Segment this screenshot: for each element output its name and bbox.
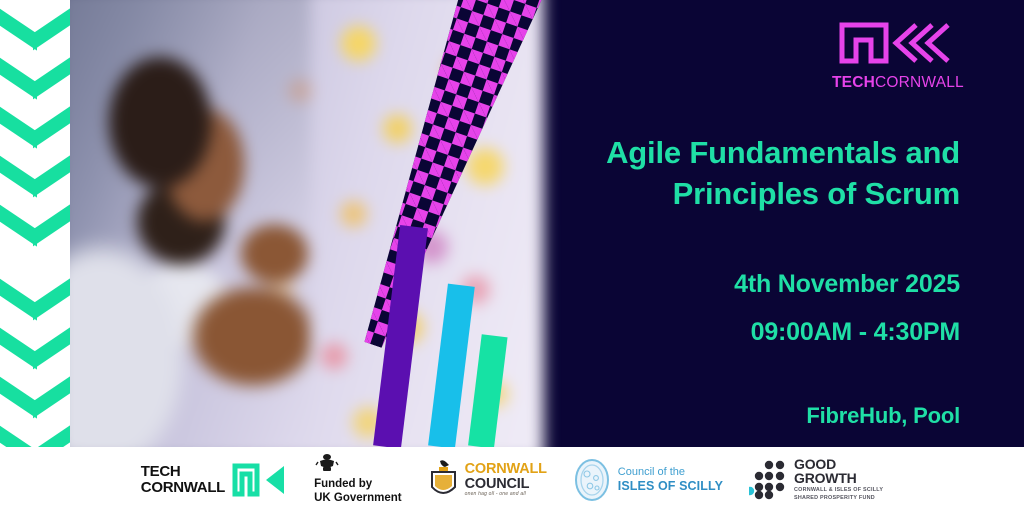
tech-cornwall-line-2: CORNWALL xyxy=(141,480,225,496)
good-growth-line-2: GROWTH xyxy=(794,471,883,485)
footer-logo-uk-government: Funded by UK Government xyxy=(314,453,402,506)
uk-government-line-2: UK Government xyxy=(314,492,402,506)
isles-of-scilly-line-1: Council of the xyxy=(618,466,723,479)
footer-logo-tech-cornwall: TECH CORNWALL xyxy=(141,463,288,497)
chevron-icon xyxy=(0,276,70,316)
brand-logo-word-bold: TECH xyxy=(832,74,875,91)
page-title: Agile Fundamentals and Principles of Scr… xyxy=(480,132,960,214)
event-time: 09:00AM - 4:30PM xyxy=(480,318,960,347)
brand-logo: TECHCORNWALL xyxy=(832,18,962,92)
event-date: 4th November 2025 xyxy=(480,270,960,299)
good-growth-sub-1: CORNWALL & ISLES OF SCILLY xyxy=(794,487,883,494)
royal-crest-icon xyxy=(314,453,340,473)
brand-logo-word-light: CORNWALL xyxy=(875,74,964,91)
photo-person xyxy=(56,0,310,447)
good-growth-sub-2: SHARED PROSPERITY FUND xyxy=(794,495,883,502)
tech-cornwall-mark-icon xyxy=(232,463,288,497)
good-growth-subtitle: CORNWALL & ISLES OF SCILLY SHARED PROSPE… xyxy=(794,487,883,502)
chevron-icon xyxy=(0,153,70,193)
event-details: Agile Fundamentals and Principles of Scr… xyxy=(480,132,960,429)
tech-cornwall-line-1: TECH xyxy=(141,464,225,480)
good-growth-dots-icon xyxy=(749,460,787,500)
chevron-strip xyxy=(0,0,70,447)
title-line-2: Principles of Scrum xyxy=(480,173,960,214)
chevron-icon xyxy=(0,325,70,365)
footer-logo-isles-of-scilly: Council of the ISLES OF SCILLY xyxy=(573,458,723,502)
tech-cornwall-wordmark: TECH CORNWALL xyxy=(141,464,225,496)
good-growth-line-1: GOOD xyxy=(794,457,883,471)
hero-area: TECHCORNWALL Agile Fundamentals and Prin… xyxy=(0,0,1024,447)
chevron-icon xyxy=(0,202,70,242)
isles-of-scilly-line-2: ISLES OF SCILLY xyxy=(618,479,723,493)
cornwall-council-line-1: CORNWALL xyxy=(465,462,547,477)
cornwall-council-crest-icon xyxy=(428,459,458,501)
footer-logo-good-growth: GOOD GROWTH CORNWALL & ISLES OF SCILLY S… xyxy=(749,457,883,502)
chevron-icon xyxy=(0,374,70,414)
event-venue: FibreHub, Pool xyxy=(480,403,960,429)
title-line-1: Agile Fundamentals and xyxy=(480,132,960,173)
chevron-icon xyxy=(0,6,70,46)
uk-government-wordmark: Funded by UK Government xyxy=(314,478,402,506)
event-banner: TECHCORNWALL Agile Fundamentals and Prin… xyxy=(0,0,1024,512)
chevron-icon xyxy=(0,423,70,447)
brand-logo-wordmark: TECHCORNWALL xyxy=(832,74,962,92)
cornwall-council-line-2: COUNCIL xyxy=(465,477,547,492)
cornwall-council-tagline: onen hag oll - one and all xyxy=(465,491,547,497)
footer-logo-cornwall-council: CORNWALL COUNCIL onen hag oll - one and … xyxy=(428,459,547,501)
chevron-icon xyxy=(0,104,70,144)
chevron-icon xyxy=(0,55,70,95)
tech-cornwall-mark-icon xyxy=(832,18,962,68)
isles-of-scilly-crest-icon xyxy=(573,458,611,502)
uk-government-line-1: Funded by xyxy=(314,478,402,492)
footer-logo-strip: TECH CORNWALL Funded by UK Government xyxy=(0,447,1024,512)
